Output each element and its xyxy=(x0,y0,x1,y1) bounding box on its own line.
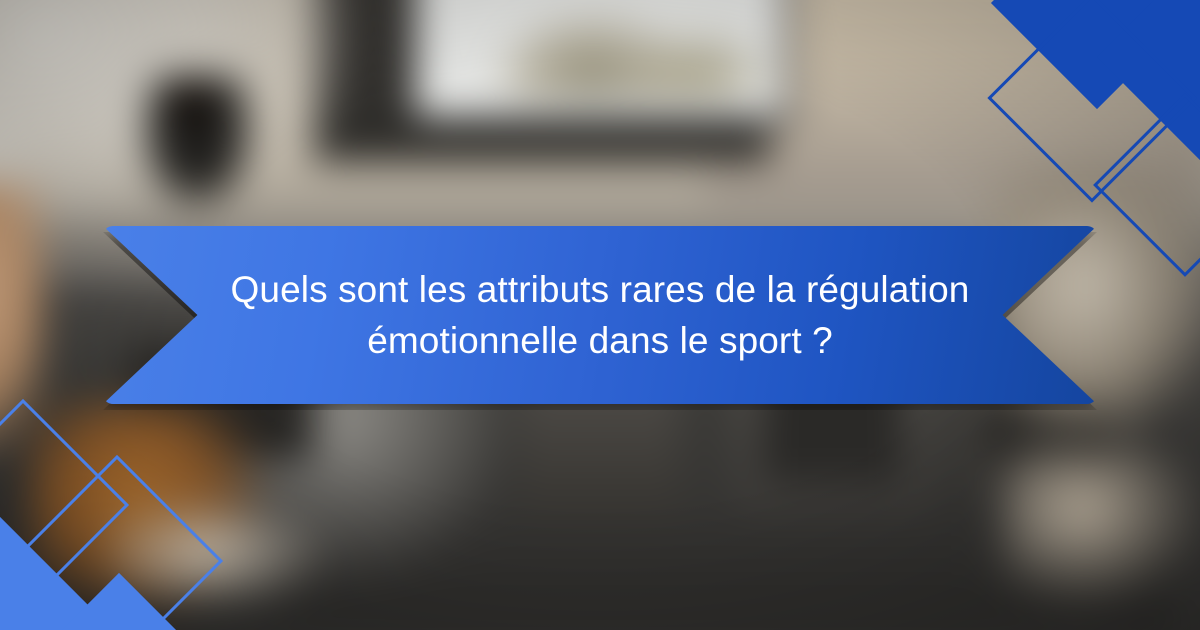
share-card-canvas: Quels sont les attributs rares de la rég… xyxy=(0,0,1200,630)
title-banner: Quels sont les attributs rares de la rég… xyxy=(103,226,1097,404)
page-title: Quels sont les attributs rares de la rég… xyxy=(230,264,970,366)
